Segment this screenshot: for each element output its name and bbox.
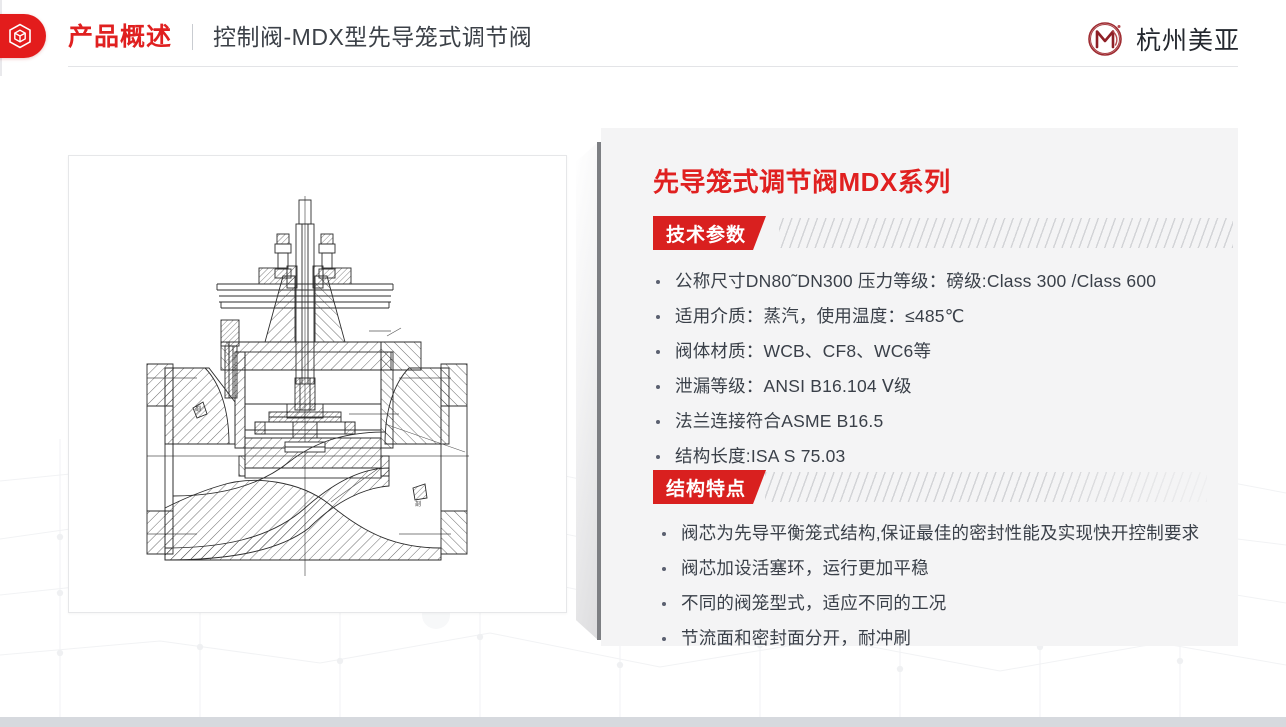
section-hatch-decoration [779,218,1233,248]
list-item: 法兰连接符合ASME B16.5 [653,404,1233,439]
section-label: 结构特点 [653,470,766,504]
section-header: 结构特点 [653,470,1233,504]
svg-text:剖: 剖 [195,405,201,413]
section-structural-features: 结构特点 阀芯为先导平衡笼式结构,保证最佳的密封性能及实现快开控制要求 阀芯加设… [653,470,1233,656]
bottom-bar [0,717,1286,727]
page-header: 产品概述 控制阀-MDX型先导笼式调节阀 杭州美亚 [0,0,1286,76]
list-item: 结构长度:ISA S 75.03 [653,439,1233,474]
info-panel-wrapper: 先导笼式调节阀MDX系列 技术参数 公称尺寸DN80˜DN300 压力等级：磅级… [576,128,1240,648]
section-technical-parameters: 技术参数 公称尺寸DN80˜DN300 压力等级：磅级:Class 300 /C… [653,216,1233,474]
svg-text:剖: 剖 [415,500,421,508]
header-underline [68,66,1238,67]
list-item: 泄漏等级：ANSI B16.104 Ⅴ级 [653,369,1233,404]
list-item: 适用介质：蒸汽，使用温度：≤485℃ [653,299,1233,334]
section-hatch-decoration [765,472,1207,502]
header-title-group: 产品概述 控制阀-MDX型先导笼式调节阀 [68,17,532,57]
list-item: 阀芯加设活塞环，运行更加平稳 [653,551,1233,586]
brand-logo: 杭州美亚 [1085,18,1240,60]
panel-fold-decoration [576,142,598,640]
cube-hexagon-icon [0,14,46,58]
list-item: 公称尺寸DN80˜DN300 压力等级：磅级:Class 300 /Class … [653,264,1233,299]
slide-page: 产品概述 控制阀-MDX型先导笼式调节阀 杭州美亚 [0,0,1286,727]
page-subtitle: 控制阀-MDX型先导笼式调节阀 [213,17,532,57]
list-item: 阀体材质：WCB、CF8、WC6等 [653,334,1233,369]
list-item: 不同的阀笼型式，适应不同的工况 [653,586,1233,621]
meiya-m-circle-logo [1085,18,1127,60]
technical-parameter-list: 公称尺寸DN80˜DN300 压力等级：磅级:Class 300 /Class … [653,264,1233,474]
list-item: 节流面和密封面分开，耐冲刷 [653,621,1233,656]
product-series-title: 先导笼式调节阀MDX系列 [653,162,951,199]
page-title: 产品概述 [68,17,172,57]
section-header: 技术参数 [653,216,1233,250]
product-info-panel: 先导笼式调节阀MDX系列 技术参数 公称尺寸DN80˜DN300 压力等级：磅级… [601,128,1238,646]
control-valve-cross-section-drawing: 剖 剖 [68,155,567,613]
brand-name: 杭州美亚 [1136,21,1240,57]
section-label: 技术参数 [653,216,766,250]
list-item: 阀芯为先导平衡笼式结构,保证最佳的密封性能及实现快开控制要求 [653,516,1233,551]
title-divider [192,24,193,50]
structural-feature-list: 阀芯为先导平衡笼式结构,保证最佳的密封性能及实现快开控制要求 阀芯加设活塞环，运… [653,516,1233,656]
